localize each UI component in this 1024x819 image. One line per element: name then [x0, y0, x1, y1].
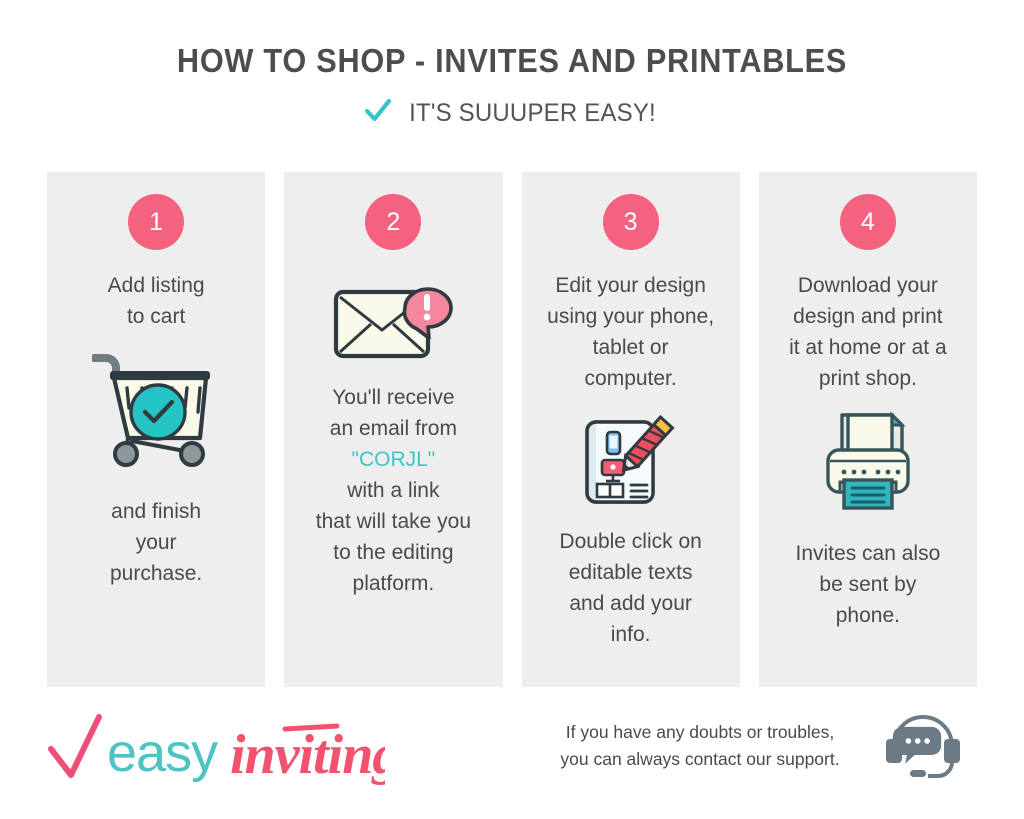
- step-number-badge-4: 4: [840, 194, 896, 250]
- step-number-badge-3: 3: [603, 194, 659, 250]
- header: HOW TO SHOP - INVITES AND PRINTABLES IT'…: [0, 0, 1024, 131]
- step-text-bottom-4: Invites can also be sent by phone.: [771, 538, 965, 631]
- check-icon: [363, 96, 393, 131]
- page-subtitle: IT'S SUUUPER EASY!: [409, 99, 656, 128]
- check-icon: [51, 717, 99, 775]
- svg-text:inviting: inviting: [230, 724, 385, 786]
- support-text: If you have any doubts or troubles, you …: [520, 719, 880, 773]
- step-panel-4: 4 Download your design and print it at h…: [759, 172, 977, 687]
- subtitle-row: IT'S SUUUPER EASY!: [0, 96, 1024, 131]
- page-title: HOW TO SHOP - INVITES AND PRINTABLES: [36, 42, 988, 80]
- step-text-top-1: Add listing to cart: [59, 270, 253, 332]
- step-text-top-4: Download your design and print it at hom…: [771, 270, 965, 394]
- headset-support-icon: [884, 706, 962, 787]
- step-text-bottom-3: Double click on editable texts and add y…: [534, 526, 728, 650]
- infographic-page: HOW TO SHOP - INVITES AND PRINTABLES IT'…: [0, 0, 1024, 819]
- step-panel-3: 3 Edit your design using your phone, tab…: [522, 172, 740, 687]
- step-text-bottom-1: and finish your purchase.: [59, 496, 253, 589]
- footer: easy inviting If you have any doubts or …: [0, 697, 1024, 819]
- step-number-badge-1: 1: [128, 194, 184, 250]
- step-text-bottom-2: You'll receive an email from: [296, 382, 490, 444]
- envelope-alert-icon: [333, 276, 453, 362]
- step-text-after-2: with a link that will take you to the ed…: [296, 475, 490, 599]
- printer-icon: [816, 410, 920, 510]
- brand-logo: easy inviting: [45, 705, 385, 802]
- shopping-cart-check-icon: [92, 346, 220, 468]
- corjl-label: "CORJL": [351, 448, 435, 471]
- step-panel-1: 1 Add listing to cart: [47, 172, 265, 687]
- step-panel-2: 2 You'll receive an email from "CORJL" w…: [284, 172, 502, 687]
- step-number-badge-2: 2: [365, 194, 421, 250]
- steps-container: 1 Add listing to cart: [47, 172, 977, 687]
- design-edit-pencil-icon: [579, 408, 683, 508]
- step-highlight-2: "CORJL": [296, 444, 490, 475]
- step-text-top-3: Edit your design using your phone, table…: [534, 270, 728, 394]
- svg-text:easy: easy: [107, 723, 218, 783]
